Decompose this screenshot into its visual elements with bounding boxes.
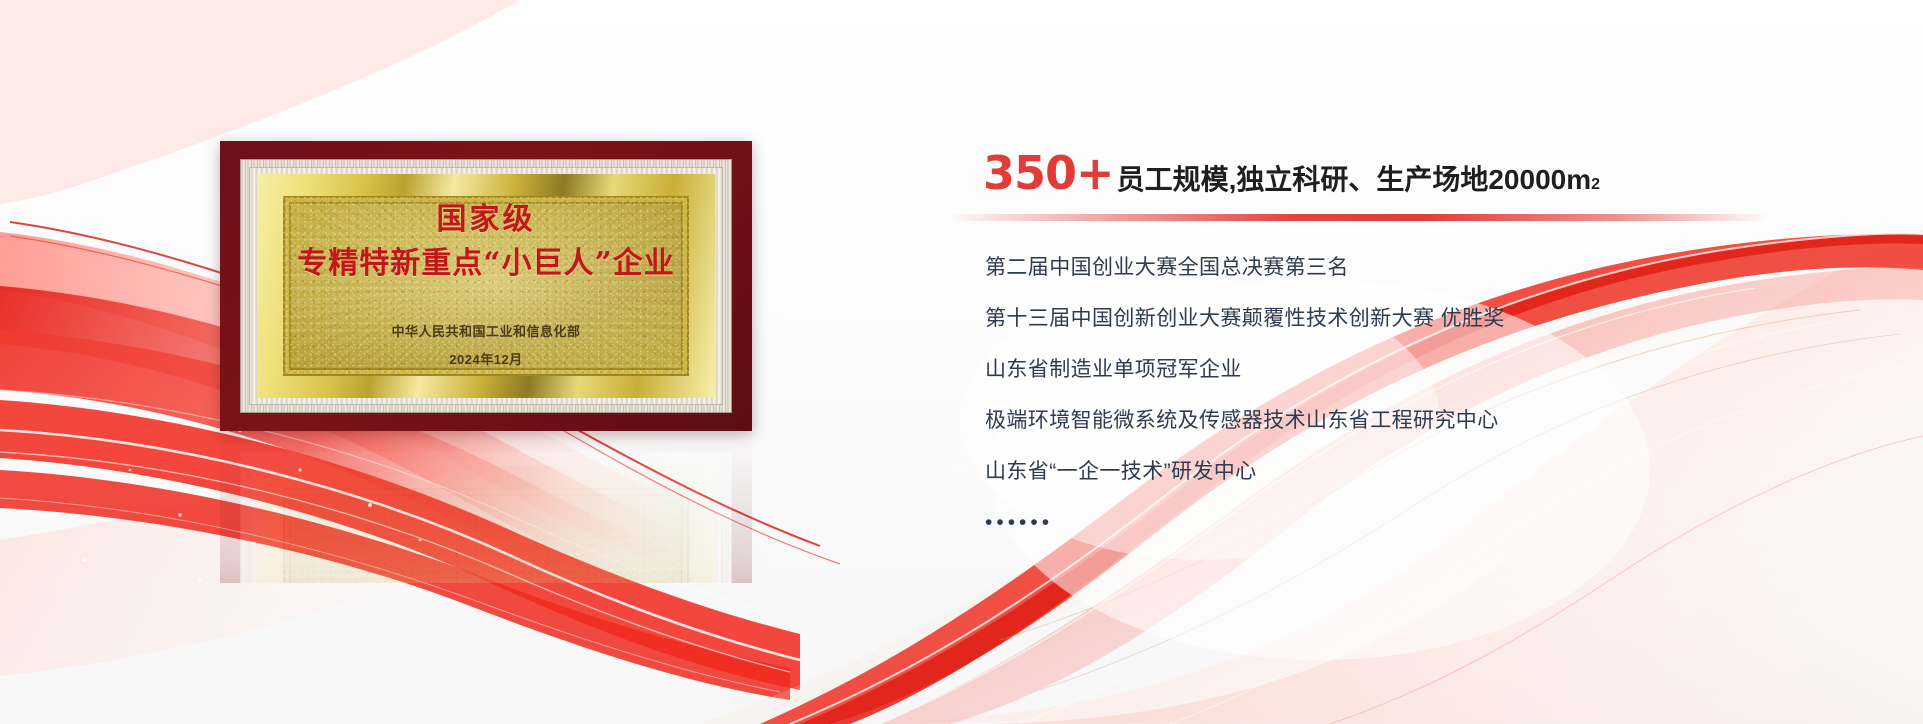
plaque-gold-mat: 国家级 专精特新重点“小巨人”企业 中华人民共和国工业和信息化部 2024年12…: [257, 174, 715, 398]
plaque-title-line2: 专精特新重点“小巨人”企业: [297, 249, 675, 279]
headline-text: 员工规模,独立科研、生产场地20000m: [1117, 166, 1592, 194]
headline-divider: [947, 214, 1767, 221]
plaque-reflection: [220, 433, 752, 583]
plaque-silver-border: 国家级 专精特新重点“小巨人”企业 中华人民共和国工业和信息化部 2024年12…: [240, 159, 732, 413]
headline-number: 350+: [983, 150, 1114, 196]
plaque-outer-frame: 国家级 专精特新重点“小巨人”企业 中华人民共和国工业和信息化部 2024年12…: [220, 141, 752, 431]
plaque-inscription: 国家级 专精特新重点“小巨人”企业 中华人民共和国工业和信息化部 2024年12…: [283, 196, 689, 376]
plaque-date: 2024年12月: [449, 349, 522, 368]
headline-superscript: 2: [1591, 177, 1600, 193]
plaque-title-line1: 国家级: [437, 205, 536, 235]
banner-content: 350+ 员工规模,独立科研、生产场地20000m 2 第二届中国创业大赛全国总…: [985, 150, 1885, 533]
plaque-issuer: 中华人民共和国工业和信息化部: [391, 321, 580, 340]
promo-banner: 国家级 专精特新重点“小巨人”企业 中华人民共和国工业和信息化部 2024年12…: [0, 0, 1923, 724]
awards-more-indicator: ••••••: [985, 512, 1885, 533]
plaque-gold-plate: 国家级 专精特新重点“小巨人”企业 中华人民共和国工业和信息化部 2024年12…: [283, 196, 689, 376]
list-item: 第二届中国创业大赛全国总决赛第三名: [985, 257, 1885, 278]
list-item: 山东省“一企一技术”研发中心: [985, 461, 1885, 482]
list-item: 山东省制造业单项冠军企业: [985, 359, 1885, 380]
list-item: 极端环境智能微系统及传感器技术山东省工程研究中心: [985, 410, 1885, 431]
headline: 350+ 员工规模,独立科研、生产场地20000m 2: [983, 150, 1885, 196]
award-plaque: 国家级 专精特新重点“小巨人”企业 中华人民共和国工业和信息化部 2024年12…: [220, 141, 752, 431]
list-item: 第十三届中国创新创业大赛颠覆性技术创新大赛 优胜奖: [985, 308, 1885, 329]
awards-list: 第二届中国创业大赛全国总决赛第三名 第十三届中国创新创业大赛颠覆性技术创新大赛 …: [985, 257, 1885, 533]
plaque-silver-border-inner: 国家级 专精特新重点“小巨人”企业 中华人民共和国工业和信息化部 2024年12…: [249, 167, 723, 405]
